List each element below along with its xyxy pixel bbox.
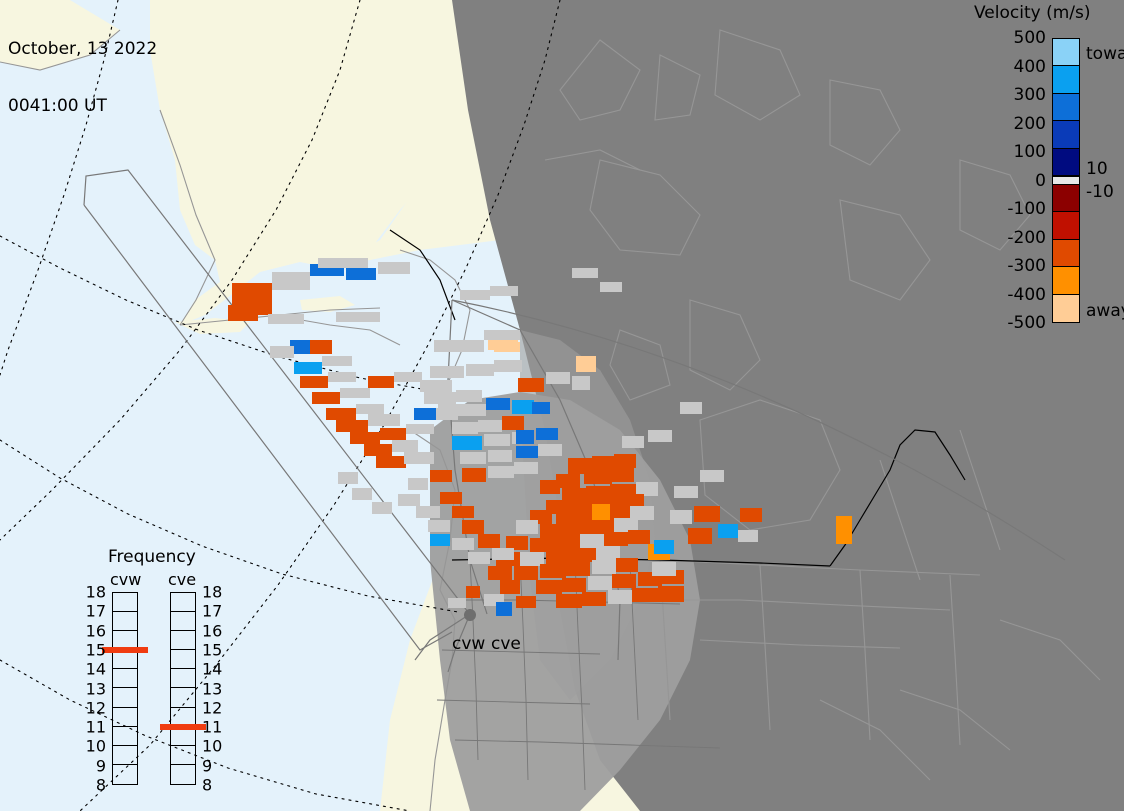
frequency-cell [171, 631, 195, 650]
frequency-column-label-cvw: cvw [110, 570, 141, 589]
scatter-cell [496, 602, 512, 616]
scatter-cell [612, 574, 636, 588]
scatter-cell [564, 522, 590, 536]
frequency-cell [171, 612, 195, 631]
scatter-cell [452, 436, 482, 450]
scatter-cell [600, 282, 622, 292]
scatter-cell [486, 398, 510, 410]
scatter-cell [532, 402, 550, 414]
scatter-cell [466, 586, 480, 598]
scatter-cell [460, 290, 490, 300]
velocity-swatch-away-2 [1053, 240, 1079, 267]
frequency-cell [113, 612, 137, 631]
scatter-cell [322, 356, 352, 366]
scatter-cell [582, 592, 606, 606]
scatter-cell [580, 534, 604, 548]
frequency-cell [113, 765, 137, 784]
scatter-cell [326, 408, 356, 420]
frequency-cell [171, 669, 195, 688]
frequency-bar-cvw [112, 592, 138, 785]
frequency-cell [171, 593, 195, 612]
scatter-cell [350, 432, 380, 444]
scatter-cell [352, 488, 372, 500]
frequency-cell [113, 727, 137, 746]
velocity-tick--500: -500 [1007, 313, 1046, 333]
scatter-cell [658, 586, 684, 602]
scatter-cell [620, 494, 644, 508]
frequency-tick-left-11: 11 [82, 718, 106, 737]
scatter-cell [588, 576, 612, 590]
scatter-cell [516, 520, 538, 534]
frequency-marker-cvw [102, 647, 148, 653]
velocity-tick--100: -100 [1007, 199, 1046, 219]
scatter-cell [452, 538, 474, 550]
scatter-cell [572, 548, 596, 562]
radar-site-marker [464, 609, 476, 621]
scatter-cell [460, 404, 486, 416]
frequency-bar-cve [170, 592, 196, 785]
frequency-cell [171, 650, 195, 669]
scatter-cell [566, 562, 590, 576]
timestamp-date: October, 13 2022 [8, 40, 157, 59]
scatter-cell [300, 376, 328, 388]
superdarn-fan-plot: October, 13 2022 0041:00 UT Velocity (m/… [0, 0, 1124, 811]
scatter-cell [546, 372, 570, 384]
scatter-cell [338, 472, 358, 484]
scatter-cell [502, 416, 524, 430]
scatter-cell [368, 414, 400, 426]
scatter-cell [596, 546, 620, 560]
scatter-cell [368, 376, 394, 388]
velocity-tick--300: -300 [1007, 256, 1046, 276]
timestamp: October, 13 2022 0041:00 UT [8, 2, 157, 154]
frequency-cell [171, 688, 195, 707]
scatter-cell [836, 516, 852, 544]
frequency-tick-left-12: 12 [82, 698, 106, 717]
frequency-tick-right-10: 10 [202, 737, 226, 756]
scatter-cell [514, 566, 538, 580]
frequency-legend: Frequency cvwcve181817171616151514141313… [90, 545, 260, 793]
scatter-cell [590, 520, 614, 534]
scatter-cell [336, 420, 368, 432]
frequency-cell [113, 746, 137, 765]
scatter-cell [694, 506, 720, 522]
scatter-cell [608, 590, 632, 604]
scatter-cell [340, 388, 370, 398]
scatter-cell [648, 430, 672, 442]
scatter-cell [632, 588, 658, 602]
scatter-cell [492, 548, 514, 560]
frequency-tick-right-8: 8 [202, 776, 226, 795]
velocity-swatch-toward-1 [1053, 66, 1079, 93]
scatter-cell [500, 580, 520, 594]
scatter-cell [680, 402, 702, 414]
frequency-tick-right-9: 9 [202, 756, 226, 775]
scatter-cell [636, 482, 658, 496]
scatter-cell [614, 454, 636, 468]
scatter-cell [404, 452, 434, 464]
velocity-swatch-away-1 [1053, 212, 1079, 239]
frequency-tick-left-18: 18 [82, 583, 106, 602]
scatter-cell [540, 564, 566, 578]
scatter-cell [328, 372, 356, 382]
velocity-label-toward: toward [1086, 44, 1124, 64]
radar-site-label-cvw: cvw [452, 634, 485, 654]
frequency-tick-right-16: 16 [202, 621, 226, 640]
scatter-cell [462, 468, 486, 482]
scatter-cell [430, 534, 450, 546]
scatter-cell [346, 268, 376, 280]
scatter-cell [512, 400, 534, 414]
scatter-cell [434, 340, 484, 352]
velocity-tick-100: 100 [1014, 142, 1046, 162]
scatter-cell [514, 462, 538, 474]
scatter-cell [466, 364, 494, 376]
frequency-cell [113, 708, 137, 727]
scatter-cell [424, 392, 456, 404]
frequency-tick-right-15: 15 [202, 640, 226, 659]
frequency-tick-left-10: 10 [82, 737, 106, 756]
frequency-tick-left-9: 9 [82, 756, 106, 775]
frequency-cell [171, 765, 195, 784]
velocity-swatch-away-4 [1053, 295, 1079, 322]
scatter-cell [556, 594, 582, 608]
scatter-cell [700, 470, 724, 482]
frequency-cell [113, 688, 137, 707]
scatter-cell [518, 378, 544, 392]
frequency-tick-left-13: 13 [82, 679, 106, 698]
scatter-cell [592, 504, 610, 520]
scatter-cell [452, 422, 478, 434]
scatter-cell [536, 580, 562, 594]
velocity-swatch-toward-0 [1053, 39, 1079, 66]
frequency-tick-left-14: 14 [82, 660, 106, 679]
scatter-cell [494, 360, 522, 372]
velocity-zero-gap [1053, 176, 1079, 185]
scatter-cell [228, 305, 258, 321]
frequency-cell [113, 650, 137, 669]
scatter-cell [572, 376, 590, 390]
scatter-cell [456, 390, 482, 402]
scatter-cell [414, 408, 436, 420]
velocity-tick--400: -400 [1007, 285, 1046, 305]
velocity-legend-title: Velocity (m/s) [974, 3, 1091, 23]
scatter-cell [420, 380, 452, 392]
scatter-cell [270, 346, 294, 358]
velocity-swatch-toward-3 [1053, 121, 1079, 148]
scatter-cell [738, 530, 758, 542]
scatter-cell [462, 520, 484, 534]
scatter-cell [336, 312, 380, 322]
frequency-tick-left-16: 16 [82, 621, 106, 640]
scatter-cell [272, 272, 310, 290]
frequency-tick-left-17: 17 [82, 602, 106, 621]
scatter-cell [378, 262, 410, 274]
velocity-tick-0: 0 [1035, 171, 1046, 191]
scatter-cell [554, 536, 580, 550]
scatter-cell [430, 470, 452, 482]
frequency-cell [113, 669, 137, 688]
scatter-cell [516, 430, 534, 444]
scatter-cell [478, 534, 500, 548]
frequency-tick-left-15: 15 [82, 640, 106, 659]
scatter-cell [630, 506, 654, 520]
velocity-colorbar [1052, 38, 1080, 323]
velocity-tick-200: 200 [1014, 114, 1046, 134]
scatter-cell [488, 466, 514, 478]
scatter-cell [516, 446, 538, 458]
scatter-cell [364, 444, 392, 456]
scatter-cell [488, 450, 512, 462]
scatter-cell [674, 486, 698, 498]
scatter-cell [570, 498, 594, 512]
scatter-cell [452, 506, 474, 518]
scatter-cell [592, 456, 616, 470]
scatter-cell [592, 560, 616, 574]
frequency-marker-cve [160, 724, 206, 730]
scatter-cell [440, 492, 462, 504]
velocity-tick-400: 400 [1014, 57, 1046, 77]
scatter-cell [538, 444, 562, 456]
scatter-cell [484, 330, 520, 340]
scatter-cell [622, 436, 644, 448]
scatter-cell [530, 538, 554, 552]
scatter-cell [376, 456, 406, 468]
scatter-cell [488, 566, 512, 580]
velocity-legend: Velocity (m/s) 5004003002001000-100-200-… [960, 0, 1124, 340]
velocity-tick-300: 300 [1014, 85, 1046, 105]
scatter-cell [562, 578, 586, 592]
velocity-swatch-toward-4 [1053, 149, 1079, 176]
scatter-cell [478, 420, 502, 432]
radar-site-label-cve: cve [491, 634, 521, 654]
scatter-cell [584, 470, 612, 484]
scatter-cell [468, 552, 490, 564]
scatter-cell [688, 528, 712, 544]
scatter-cell [312, 392, 340, 404]
velocity-tick-500: 500 [1014, 28, 1046, 48]
timestamp-time: 0041:00 UT [8, 97, 157, 116]
velocity-swatch-away-3 [1053, 267, 1079, 294]
frequency-column-label-cve: cve [168, 570, 196, 589]
velocity-label-plus-10: 10 [1086, 159, 1108, 179]
scatter-cell [670, 510, 692, 524]
frequency-tick-right-13: 13 [202, 679, 226, 698]
scatter-cell [628, 530, 650, 544]
scatter-cell [506, 536, 528, 550]
scatter-cell [494, 342, 520, 352]
scatter-cell [268, 314, 304, 324]
scatter-cell [380, 428, 406, 440]
scatter-cell [572, 268, 598, 278]
scatter-cell [310, 340, 332, 354]
scatter-cell [294, 362, 322, 374]
scatter-cell [718, 524, 738, 538]
frequency-tick-left-8: 8 [82, 776, 106, 795]
scatter-cell [394, 372, 422, 382]
velocity-tick--200: -200 [1007, 228, 1046, 248]
scatter-cell [576, 356, 596, 372]
scatter-cell [460, 452, 486, 464]
scatter-cell [430, 366, 464, 378]
frequency-cell [113, 593, 137, 612]
scatter-cell [408, 478, 428, 490]
scatter-cell [536, 428, 558, 440]
scatter-cell [520, 552, 544, 566]
scatter-cell [516, 596, 536, 608]
scatter-cell [406, 424, 434, 434]
scatter-cell [318, 258, 368, 268]
frequency-legend-title: Frequency [108, 547, 196, 567]
scatter-cell [438, 404, 460, 416]
scatter-cell [740, 508, 762, 522]
velocity-swatch-away-0 [1053, 185, 1079, 212]
frequency-tick-right-12: 12 [202, 698, 226, 717]
scatter-cell [546, 550, 572, 564]
frequency-tick-right-11: 11 [202, 718, 226, 737]
velocity-label-away: away [1086, 301, 1124, 321]
velocity-swatch-toward-2 [1053, 94, 1079, 121]
scatter-cell [448, 598, 466, 608]
scatter-cell [540, 524, 564, 538]
scatter-cell [398, 494, 420, 506]
frequency-tick-right-17: 17 [202, 602, 226, 621]
scatter-cell [614, 518, 638, 532]
scatter-cell [484, 434, 510, 446]
scatter-cell [416, 506, 440, 518]
frequency-tick-right-14: 14 [202, 660, 226, 679]
scatter-cell [356, 404, 384, 414]
scatter-cell [604, 532, 628, 546]
frequency-tick-right-18: 18 [202, 583, 226, 602]
scatter-cell [392, 440, 418, 452]
frequency-cell [171, 746, 195, 765]
velocity-label-minus-10: -10 [1086, 182, 1114, 202]
scatter-cell [652, 562, 676, 576]
scatter-cell [540, 480, 560, 494]
scatter-cell [372, 502, 392, 514]
scatter-cell [428, 520, 450, 532]
scatter-cell [616, 558, 638, 572]
scatter-cell [654, 540, 674, 554]
scatter-cell [490, 286, 518, 296]
scatter-cell [608, 468, 634, 482]
